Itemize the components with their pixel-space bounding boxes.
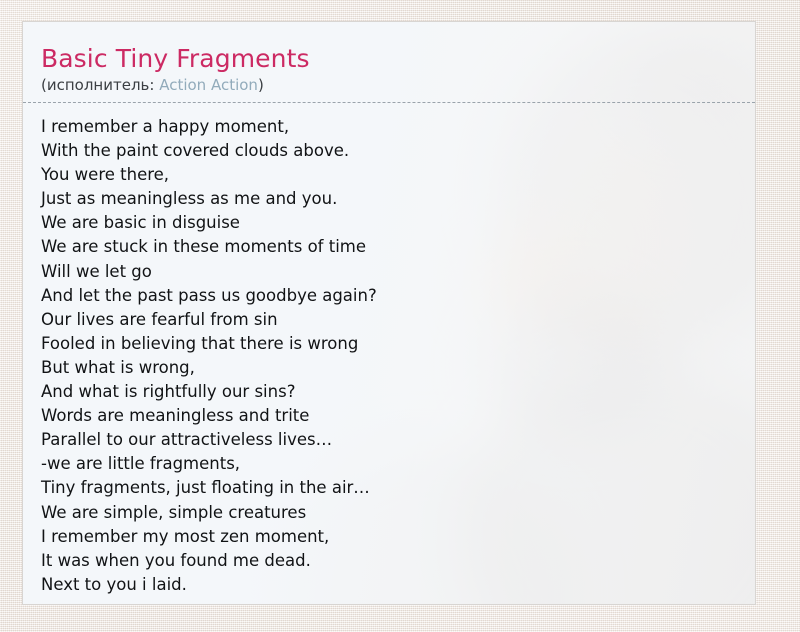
lyric-line: Words are meaningless and trite bbox=[41, 404, 737, 428]
lyric-line: We are simple, simple creatures bbox=[41, 501, 737, 525]
lyric-line: It was when you found me dead. bbox=[41, 549, 737, 573]
lyric-line: Just as meaningless as me and you. bbox=[41, 187, 737, 211]
lyric-line: With the paint covered clouds above. bbox=[41, 139, 737, 163]
page-frame: Basic Tiny Fragments (исполнитель: Actio… bbox=[0, 0, 800, 632]
lyric-line: We are basic in disguise bbox=[41, 211, 737, 235]
lyric-line: Will we let go bbox=[41, 260, 737, 284]
lyric-line: Next to you i laid. bbox=[41, 573, 737, 597]
artist-suffix-label: ) bbox=[258, 76, 264, 94]
lyric-line: And let the past pass us goodbye again? bbox=[41, 284, 737, 308]
lyric-line: We are stuck in these moments of time bbox=[41, 235, 737, 259]
lyric-line: I remember my most zen moment, bbox=[41, 525, 737, 549]
lyric-line: Fooled in believing that there is wrong bbox=[41, 332, 737, 356]
lyrics-body: I remember a happy moment,With the paint… bbox=[23, 103, 755, 597]
lyric-line: I remember a happy moment, bbox=[41, 115, 737, 139]
page-title: Basic Tiny Fragments bbox=[41, 44, 737, 74]
lyric-line: And what is rightfully our sins? bbox=[41, 380, 737, 404]
lyric-line: But what is wrong, bbox=[41, 356, 737, 380]
lyric-line: -we are little fragments, bbox=[41, 452, 737, 476]
artist-prefix-label: (исполнитель: bbox=[41, 76, 159, 94]
lyric-line: Tiny fragments, just floating in the air… bbox=[41, 476, 737, 500]
artist-link[interactable]: Action Action bbox=[159, 76, 258, 94]
lyric-line: You were there, bbox=[41, 163, 737, 187]
artist-line: (исполнитель: Action Action) bbox=[41, 76, 737, 95]
lyrics-content-panel: Basic Tiny Fragments (исполнитель: Actio… bbox=[22, 21, 756, 605]
lyric-line: Parallel to our attractiveless lives… bbox=[41, 428, 737, 452]
lyric-line: Our lives are fearful from sin bbox=[41, 308, 737, 332]
song-header: Basic Tiny Fragments (исполнитель: Actio… bbox=[23, 22, 755, 103]
